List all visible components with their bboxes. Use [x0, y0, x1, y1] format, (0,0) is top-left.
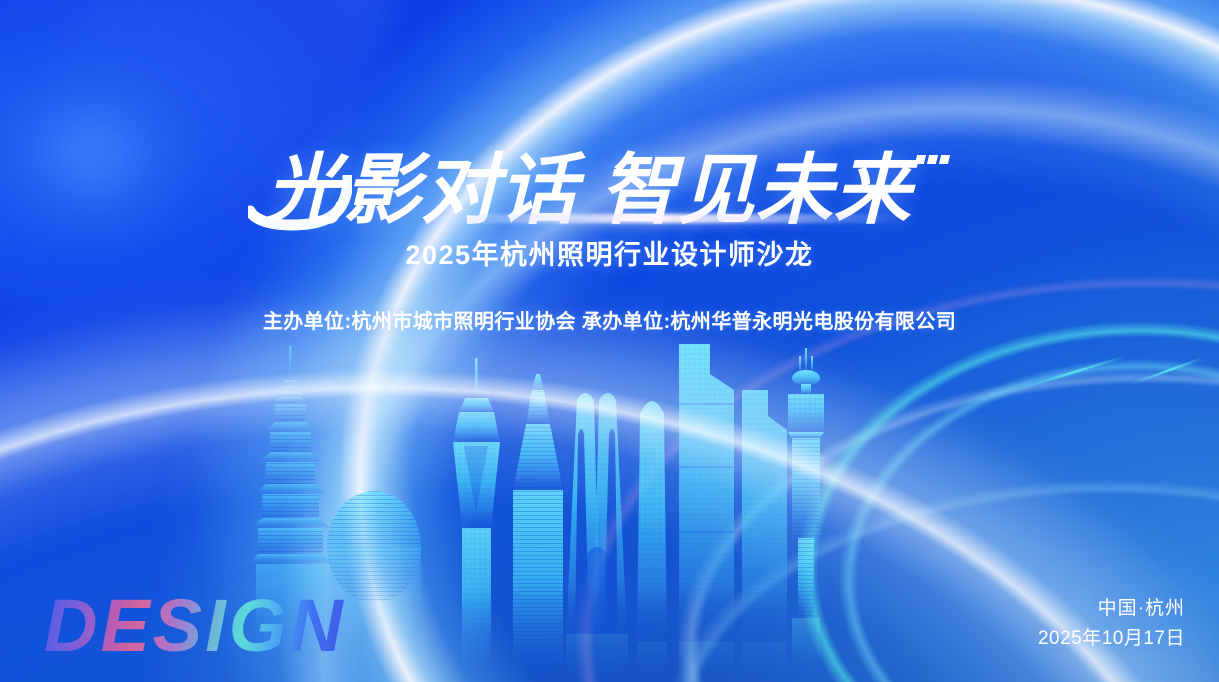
title-underline-light — [418, 214, 908, 223]
organizers-line: 主办单位:杭州市城市照明行业协会 承办单位:杭州华普永明光电股份有限公司 — [0, 308, 1219, 336]
title-ellipsis-decoration — [914, 92, 954, 104]
footer-city: 中国·杭州 — [1038, 594, 1185, 624]
design-wordmark: DESIGN — [44, 586, 346, 666]
footer-info: 中国·杭州 2025年10月17日 — [1038, 594, 1185, 654]
subtitle: 2025年杭州照明行业设计师沙龙 — [0, 238, 1219, 272]
poster-canvas: DESIGN 光影对话 智见未来 2025年杭州照明行业设计师沙龙 主办单位:杭… — [0, 0, 1219, 682]
footer-date: 2025年10月17日 — [1038, 624, 1185, 654]
